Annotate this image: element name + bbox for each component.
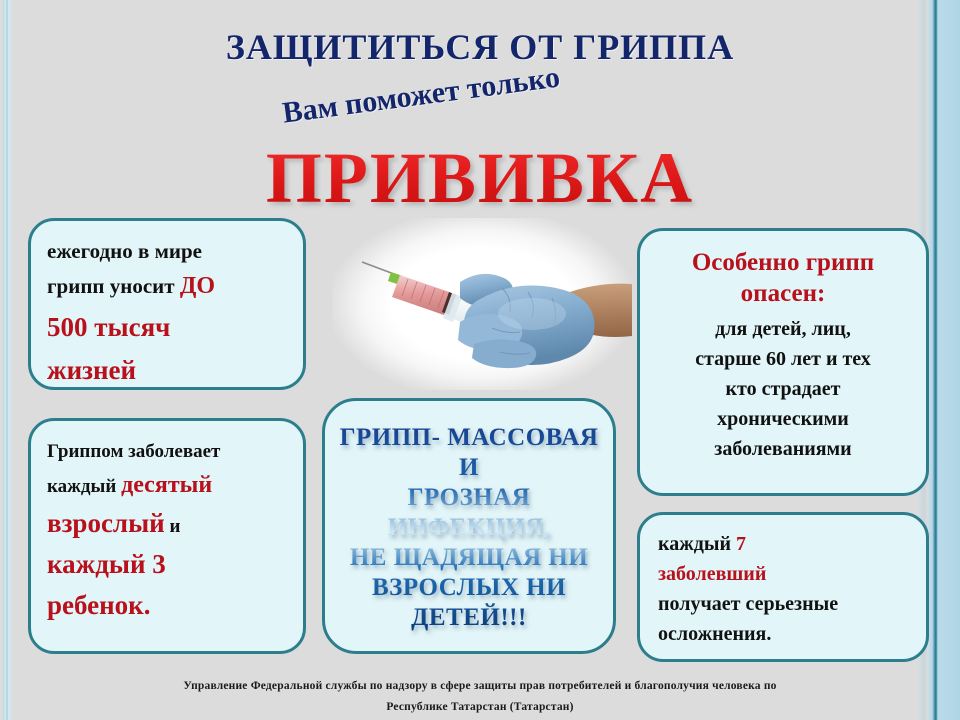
footer-line: Республике Татарстан (Татарстан) xyxy=(0,697,960,718)
card-line: старше 60 лет и тех xyxy=(654,344,912,374)
card-line: заболевший xyxy=(658,559,908,589)
wordart-block: ГРИПП- МАССОВАЯ И ГРОЗНАЯ ИНФЕКЦИЯ, НЕ Щ… xyxy=(339,423,599,633)
card-mass-infection: ГРИПП- МАССОВАЯ И ГРОЗНАЯ ИНФЕКЦИЯ, НЕ Щ… xyxy=(322,398,616,654)
text-segment: десятый xyxy=(121,472,212,498)
wordart-line: ВЗРОСЛЫХ НИ xyxy=(339,573,599,603)
card-line: жизней xyxy=(47,349,287,392)
text-segment: 7 xyxy=(736,533,746,555)
text-segment: 500 тысяч xyxy=(47,312,170,342)
text-segment: ежегодно в мире xyxy=(47,239,202,263)
card-every-seventh: каждый 7 заболевший получает серьезные о… xyxy=(637,512,929,662)
footer-attribution: Управление Федеральной службы по надзору… xyxy=(0,676,960,719)
card-line: грипп уносит ДО xyxy=(47,268,287,306)
text-segment: каждый xyxy=(658,533,736,555)
card-especially-dangerous: Особенно грипп опасен: для детей, лиц, с… xyxy=(637,228,929,496)
card-line: для детей, лиц, xyxy=(654,314,912,344)
text-segment: осложнения. xyxy=(658,623,771,645)
wordart-line: НЕ ЩАДЯЩАЯ НИ xyxy=(339,543,599,573)
wordart-line: ГРИПП- МАССОВАЯ И xyxy=(339,423,599,483)
card-line: каждый 3 xyxy=(47,544,287,585)
card-line: 500 тысяч xyxy=(47,306,287,349)
card-heading-line: опасен: xyxy=(654,278,912,309)
left-decorative-band xyxy=(0,0,14,720)
card-every-tenth: Гриппом заболевает каждый десятый взросл… xyxy=(28,418,306,654)
text-segment: Гриппом заболевает xyxy=(47,441,220,462)
text-segment: ребенок. xyxy=(47,590,151,620)
keyword-privivka: ПРИВИВКА xyxy=(0,137,960,220)
text-segment: заболевший xyxy=(658,563,766,585)
text-segment: жизней xyxy=(47,355,136,385)
subtitle-container: Вам поможет только xyxy=(275,84,655,134)
wordart-line: ДЕТЕЙ!!! xyxy=(339,603,599,633)
card-heading-line: Особенно грипп xyxy=(654,247,912,278)
card-heading: Особенно грипп опасен: xyxy=(654,247,912,310)
card-line: получает серьезные xyxy=(658,589,908,619)
card-line: Гриппом заболевает xyxy=(47,435,287,467)
text-segment: ДО xyxy=(180,273,215,299)
gloved-hand-syringe-illustration xyxy=(332,218,632,390)
card-line: кто страдает xyxy=(654,374,912,404)
card-line: осложнения. xyxy=(658,619,908,649)
card-line: каждый 7 xyxy=(658,529,908,559)
text-segment: грипп уносит xyxy=(47,274,180,298)
text-segment: и xyxy=(165,516,181,537)
card-line: хроническими xyxy=(654,404,912,434)
card-line: взрослый и xyxy=(47,503,287,544)
wordart-line: ГРОЗНАЯ ИНФЕКЦИЯ, xyxy=(339,483,599,543)
card-line: каждый десятый xyxy=(47,467,287,503)
footer-line: Управление Федеральной службы по надзору… xyxy=(0,676,960,697)
syringe-photo xyxy=(332,218,632,390)
card-body: для детей, лиц, старше 60 лет и тех кто … xyxy=(654,314,912,464)
card-line: заболеваниями xyxy=(654,434,912,464)
text-segment: взрослый xyxy=(47,508,165,538)
text-segment: каждый xyxy=(47,476,121,497)
card-line: ежегодно в мире xyxy=(47,235,287,268)
text-segment: получает серьезные xyxy=(658,593,838,615)
poster-root: ЗАЩИТИТЬСЯ ОТ ГРИППА Вам поможет только … xyxy=(0,0,960,720)
text-segment: каждый 3 xyxy=(47,549,166,579)
card-annual-deaths: ежегодно в мире грипп уносит ДО 500 тыся… xyxy=(28,218,306,390)
card-line: ребенок. xyxy=(47,585,287,626)
